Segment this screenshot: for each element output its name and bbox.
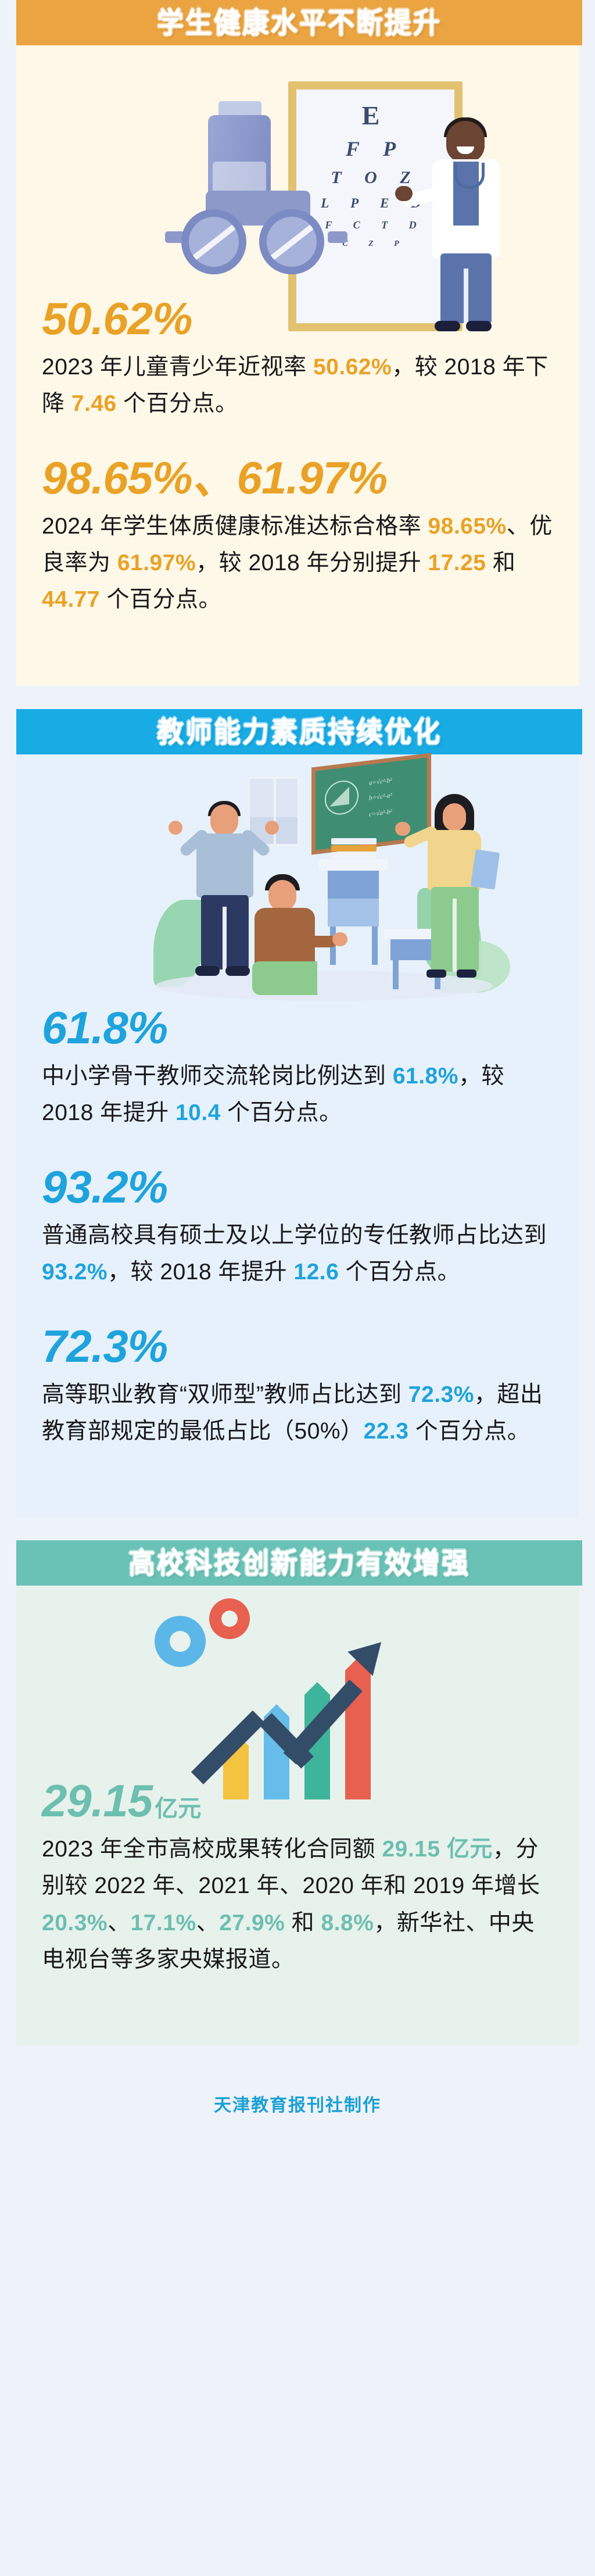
section-banner-student-health: 学生健康水平不断提升 (16, 0, 582, 45)
highlighted-figure: 29.15 亿元 (382, 1837, 492, 1862)
stat-paragraph: 2023 年全市高校成果转化合同额 29.15 亿元，分别较 2022 年、20… (42, 1831, 553, 1978)
highlighted-figure: 98.65% (428, 514, 506, 539)
infographic-page: 学生健康水平不断提升 E F P T O Z L P E D F C T D C… (0, 0, 595, 2576)
highlighted-figure: 61.97% (117, 550, 196, 575)
highlighted-figure: 7.46 (71, 391, 117, 416)
body-text: 和 (285, 1910, 321, 1935)
highlighted-figure: 20.3% (42, 1910, 107, 1935)
highlighted-figure: 17.1% (131, 1910, 196, 1935)
highlighted-figure: 8.8% (321, 1910, 374, 1935)
banner-bar: 高校科技创新能力有效增强 (16, 1540, 582, 1586)
eye-exam-illustration: E F P T O Z L P E D F C T D C Z P (16, 45, 579, 295)
stat-value: 72.3% (42, 1323, 553, 1371)
body-text: ，较 2018 年提升 (107, 1260, 293, 1285)
gear-icon (155, 1616, 206, 1667)
stat-paragraph: 2023 年儿童青少年近视率 50.62%，较 2018 年下降 7.46 个百… (42, 349, 553, 422)
stat-value: 98.65%、61.97% (42, 455, 553, 502)
section-title: 学生健康水平不断提升 (157, 8, 442, 37)
body-text: 、 (196, 1910, 220, 1935)
body-text: 个百分点。 (117, 391, 238, 416)
stat-block: 29.15亿元 2023 年全市高校成果转化合同额 29.15 亿元，分别较 2… (16, 1777, 579, 1978)
body-text: 普通高校具有硕士及以上学位的专任教师占比达到 (42, 1223, 547, 1248)
section-title: 高校科技创新能力有效增强 (128, 1549, 470, 1578)
section-teacher-quality: 教师能力素质持续优化 a=√c²-b² b=√c²-a² c=√a²-b² (0, 709, 595, 1518)
body-text: 、 (107, 1910, 131, 1935)
highlighted-figure: 93.2% (42, 1260, 107, 1285)
books-stack-icon (331, 838, 377, 859)
highlighted-figure: 22.3 (364, 1419, 409, 1444)
stat-paragraph: 2024 年学生体质健康标准达标合格率 98.65%、优良率为 61.97%，较… (42, 508, 553, 618)
growth-arrow-icon (203, 1637, 395, 1805)
stat-paragraph: 中小学骨干教师交流轮岗比例达到 61.8%，较 2018 年提升 10.4 个百… (42, 1058, 553, 1131)
stat-number: 29.15 (42, 1775, 152, 1826)
section-card: E F P T O Z L P E D F C T D C Z P (16, 45, 579, 686)
body-text: 个百分点。 (408, 1419, 530, 1444)
stat-value: 93.2% (42, 1164, 553, 1211)
body-text: 高等职业教育“双师型”教师占比达到 (42, 1382, 408, 1407)
stat-block: 98.65%、61.97% 2024 年学生体质健康标准达标合格率 98.65%… (16, 455, 579, 618)
body-text: 2023 年儿童青少年近视率 (42, 355, 313, 380)
section-banner-teacher-quality: 教师能力素质持续优化 (16, 709, 582, 754)
phoropter-icon (172, 191, 346, 284)
female-teacher-figure (417, 795, 504, 987)
stat-value: 61.8% (42, 1004, 553, 1052)
body-text: 和 (486, 550, 516, 575)
highlighted-figure: 10.4 (175, 1100, 221, 1125)
stat-paragraph: 普通高校具有硕士及以上学位的专任教师占比达到 93.2%，较 2018 年提升 … (42, 1217, 553, 1290)
highlighted-figure: 50.62% (313, 355, 392, 380)
body-text: 2023 年全市高校成果转化合同额 (42, 1837, 382, 1862)
stat-block: 72.3% 高等职业教育“双师型”教师占比达到 72.3%，超出教育部规定的最低… (16, 1323, 579, 1450)
footer-credit: 天津教育报刊社制作 (0, 2045, 595, 2169)
seated-student-figure (249, 874, 359, 996)
gear-icon (209, 1598, 250, 1639)
highlighted-figure: 12.6 (293, 1260, 339, 1285)
stat-unit: 亿元 (155, 1796, 201, 1822)
body-text: 2024 年学生体质健康标准达标合格率 (42, 514, 428, 539)
body-text: 个百分点。 (100, 587, 221, 612)
chalkboard-formula: c=√a²-b² (369, 808, 392, 818)
body-text: 个百分点。 (339, 1260, 460, 1285)
highlighted-figure: 17.25 (428, 550, 486, 575)
stat-block: 93.2% 普通高校具有硕士及以上学位的专任教师占比达到 93.2%，较 201… (16, 1164, 579, 1290)
section-card: a=√c²-b² b=√c²-a² c=√a²-b² (16, 754, 579, 1518)
section-card: 29.15亿元 2023 年全市高校成果转化合同额 29.15 亿元，分别较 2… (16, 1586, 579, 2045)
growth-chart-gears-illustration (16, 1586, 579, 1777)
section-student-health: 学生健康水平不断提升 E F P T O Z L P E D F C T D C… (0, 0, 595, 686)
chalkboard-formula: a=√c²-b² (369, 777, 392, 786)
classroom-teaching-illustration: a=√c²-b² b=√c²-a² c=√a²-b² (16, 754, 579, 1004)
highlighted-figure: 72.3% (408, 1382, 474, 1407)
highlighted-figure: 44.77 (42, 587, 100, 612)
banner-bar: 教师能力素质持续优化 (16, 709, 582, 754)
section-university-innovation: 高校科技创新能力有效增强 (0, 1540, 595, 2045)
section-title: 教师能力素质持续优化 (157, 717, 442, 746)
highlighted-figure: 61.8% (393, 1064, 458, 1089)
banner-bar: 学生健康水平不断提升 (16, 0, 582, 45)
chalkboard-formula: b=√c²-a² (369, 792, 392, 802)
section-banner-university-innovation: 高校科技创新能力有效增强 (16, 1540, 582, 1586)
doctor-figure (423, 121, 516, 330)
stat-paragraph: 高等职业教育“双师型”教师占比达到 72.3%，超出教育部规定的最低占比（50%… (42, 1376, 553, 1450)
body-text: 个百分点。 (221, 1100, 342, 1125)
body-text: 中小学骨干教师交流轮岗比例达到 (42, 1064, 393, 1089)
highlighted-figure: 27.9% (219, 1910, 285, 1935)
stat-block: 61.8% 中小学骨干教师交流轮岗比例达到 61.8%，较 2018 年提升 1… (16, 1004, 579, 1131)
body-text: ，较 2018 年分别提升 (196, 550, 428, 575)
book-icon (471, 849, 500, 889)
